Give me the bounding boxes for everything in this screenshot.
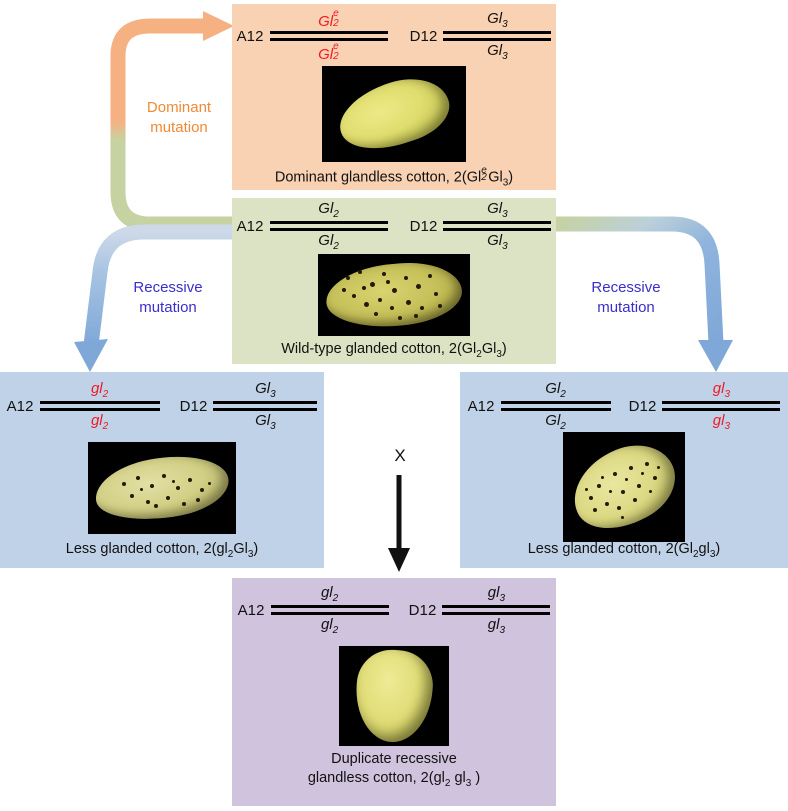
cotton-seed <box>324 258 465 332</box>
less-glanded-left-genotype: A12 gl2 gl2 D12 Gl3 Gl3 <box>0 384 324 428</box>
chromosome-a-bars: Gl2e Gl2e <box>270 14 388 58</box>
duplicate-recessive-seed-photo <box>339 646 449 746</box>
less-glanded-right-genotype: A12 Gl2 Gl2 D12 gl3 gl3 <box>460 384 788 428</box>
duplicate-recessive-caption: Duplicate recessive glandless cotton, 2(… <box>232 750 556 790</box>
dominant-glandless-panel: A12 Gl2e Gl2e D12 Gl3 Gl3 Dominant gland… <box>232 4 556 190</box>
allele-a-bottom: gl2 <box>91 413 108 432</box>
cotton-seed <box>91 449 232 527</box>
allele-d-top: Gl3 <box>487 11 508 30</box>
locus-a12-left: A12 gl2 gl2 <box>7 384 160 428</box>
less-glanded-right-seed-photo <box>563 432 685 542</box>
allele-a-bottom: Gl2 <box>545 413 566 432</box>
allele-d-bottom: Gl3 <box>487 233 508 252</box>
chromosome-a-label: A12 <box>238 603 271 618</box>
recessive-mutation-right-line2: mutation <box>570 298 682 318</box>
chromosome-d-label: D12 <box>409 603 443 618</box>
chromosome-d-label: D12 <box>629 399 663 414</box>
cotton-seed <box>331 67 457 161</box>
wildtype-glanded-seed-photo <box>318 254 470 336</box>
allele-d-top: Gl3 <box>487 201 508 220</box>
dominant-mutation-label-line1: Dominant <box>124 98 234 118</box>
less-glanded-left-caption: Less glanded cotton, 2(gl2Gl3) <box>0 540 324 562</box>
dominant-genotype: A12 Gl2e Gl2e D12 Gl3 Gl3 <box>232 14 556 58</box>
locus-d12-left: D12 Gl3 Gl3 <box>180 384 318 428</box>
cross-symbol: X <box>380 446 420 466</box>
locus-a12-wildtype: A12 Gl2 Gl2 <box>237 204 388 248</box>
less-glanded-right-panel: A12 Gl2 Gl2 D12 gl3 gl3 <box>460 372 788 568</box>
locus-d12-wildtype: D12 Gl3 Gl3 <box>410 204 552 248</box>
duplicate-recessive-genotype: A12 gl2 gl2 D12 gl3 gl3 <box>232 588 556 632</box>
chromosome-a-bars: Gl2 Gl2 <box>270 204 388 248</box>
allele-d-bottom: gl3 <box>488 617 505 636</box>
allele-a-top: Gl2 <box>318 201 339 220</box>
locus-d12-right: D12 gl3 gl3 <box>629 384 781 428</box>
dominant-mutation-label: Dominant mutation <box>124 98 234 137</box>
chromosome-a-label: A12 <box>468 399 501 414</box>
allele-a-bottom: Gl2e <box>318 44 339 62</box>
allele-d-top: gl3 <box>488 585 505 604</box>
chromosome-a-label: A12 <box>237 219 270 234</box>
recessive-mutation-right-line1: Recessive <box>570 278 682 298</box>
chromosome-d-bars: Gl3 Gl3 <box>443 204 551 248</box>
chromosome-a-bars: gl2 gl2 <box>40 384 160 428</box>
less-glanded-left-panel: A12 gl2 gl2 D12 Gl3 Gl3 <box>0 372 324 568</box>
chromosome-d-bars: Gl3 Gl3 <box>213 384 317 428</box>
chromosome-d-label: D12 <box>180 399 214 414</box>
locus-a12-duplicate: A12 gl2 gl2 <box>238 588 389 632</box>
chromosome-d-bars: gl3 gl3 <box>442 588 550 632</box>
duplicate-recessive-caption-line2: glandless cotton, 2(gl2 gl3 ) <box>232 769 556 791</box>
chromosome-d-bars: Gl3 Gl3 <box>443 14 551 58</box>
chromosome-d-label: D12 <box>410 29 444 44</box>
allele-a-top: Gl2e <box>318 11 339 29</box>
recessive-mutation-label-right: Recessive mutation <box>570 278 682 317</box>
allele-a-bottom: gl2 <box>321 617 338 636</box>
dominant-mutation-label-line2: mutation <box>124 118 234 138</box>
allele-d-bottom: gl3 <box>713 413 730 432</box>
allele-a-top: gl2 <box>91 381 108 400</box>
chromosome-a-label: A12 <box>7 399 40 414</box>
chromosome-a-bars: gl2 gl2 <box>271 588 389 632</box>
duplicate-recessive-caption-line1: Duplicate recessive <box>232 750 556 769</box>
wildtype-glanded-caption: Wild-type glanded cotton, 2(Gl2Gl3) <box>232 340 556 362</box>
locus-a12-right: A12 Gl2 Gl2 <box>468 384 611 428</box>
recessive-mutation-left-line1: Recessive <box>112 278 224 298</box>
dominant-glandless-seed-photo <box>322 66 466 162</box>
allele-d-top: gl3 <box>713 381 730 400</box>
chromosome-d-label: D12 <box>410 219 444 234</box>
chromosome-a-bars: Gl2 Gl2 <box>501 384 611 428</box>
allele-d-bottom: Gl3 <box>255 413 276 432</box>
allele-d-bottom: Gl3 <box>487 43 508 62</box>
chromosome-d-bars: gl3 gl3 <box>662 384 780 428</box>
cotton-seed <box>563 432 685 542</box>
allele-a-top: gl2 <box>321 585 338 604</box>
cotton-seed <box>353 647 435 744</box>
recessive-mutation-left-line2: mutation <box>112 298 224 318</box>
allele-d-top: Gl3 <box>255 381 276 400</box>
less-glanded-left-seed-photo <box>88 442 236 534</box>
cross-arrow <box>388 475 410 572</box>
locus-d12-dominant: D12 Gl3 Gl3 <box>410 14 552 58</box>
locus-a12-dominant: A12 Gl2e Gl2e <box>237 14 388 58</box>
dominant-glandless-caption: Dominant glandless cotton, 2(Gl2eGl3) <box>232 167 556 190</box>
recessive-mutation-label-left: Recessive mutation <box>112 278 224 317</box>
chromosome-a-label: A12 <box>237 29 270 44</box>
wildtype-genotype: A12 Gl2 Gl2 D12 Gl3 Gl3 <box>232 204 556 248</box>
less-glanded-right-caption: Less glanded cotton, 2(Gl2gl3) <box>460 540 788 562</box>
duplicate-recessive-panel: A12 gl2 gl2 D12 gl3 gl3 Duplicate recess… <box>232 578 556 806</box>
locus-d12-duplicate: D12 gl3 gl3 <box>409 588 551 632</box>
wildtype-glanded-panel: A12 Gl2 Gl2 D12 Gl3 Gl3 <box>232 198 556 364</box>
allele-a-top: Gl2 <box>545 381 566 400</box>
allele-a-bottom: Gl2 <box>318 233 339 252</box>
